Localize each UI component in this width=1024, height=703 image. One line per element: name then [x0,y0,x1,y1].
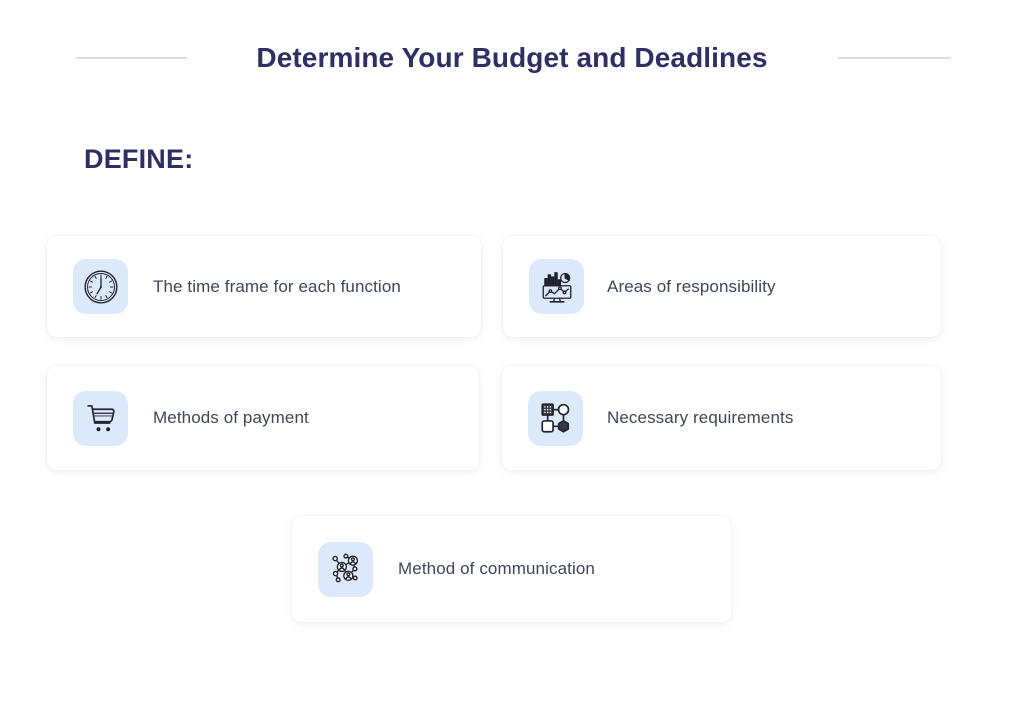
page-title: Determine Your Budget and Deadlines [256,42,767,74]
node-network-icon [528,391,583,446]
page-header: Determine Your Budget and Deadlines [0,36,1024,80]
shopping-cart-icon [73,391,128,446]
define-card-areas-of-responsibility[interactable]: Areas of responsibility [503,236,941,337]
define-card-methods-of-payment[interactable]: Methods of payment [47,366,479,470]
define-card-time-frame[interactable]: The time frame for each function [47,236,481,337]
clock-icon [73,259,128,314]
define-card-method-of-communication[interactable]: Method of communication [292,516,731,622]
header-rule-right [838,57,951,59]
define-card-label: Methods of payment [153,408,309,428]
header-rule-left [76,57,187,59]
social-network-icon [318,542,373,597]
section-heading-define: DEFINE: [84,144,193,175]
define-card-label: Method of communication [398,559,595,579]
define-card-necessary-requirements[interactable]: Necessary requirements [502,366,941,470]
define-card-label: The time frame for each function [153,277,401,297]
define-card-label: Areas of responsibility [607,277,776,297]
analytics-monitor-icon [529,259,584,314]
define-card-label: Necessary requirements [607,408,793,428]
